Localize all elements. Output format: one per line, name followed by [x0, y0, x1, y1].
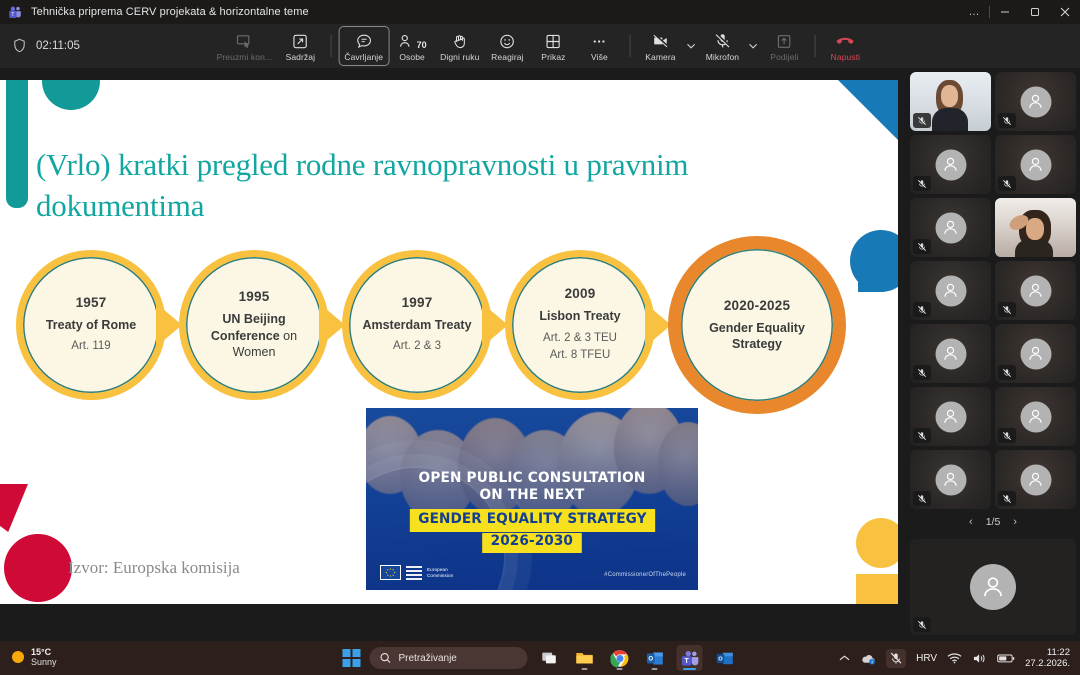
clock[interactable]: 11:22 27.2.2026. [1025, 647, 1070, 670]
control-label: Mikrofon [706, 52, 739, 62]
more-ellipsis-icon [591, 32, 608, 50]
decoration-red-shape [0, 484, 28, 532]
meeting-toolbar: 02:11:05 Preuzmi kon... Sadržaj [0, 24, 1080, 68]
mic-muted-icon [913, 617, 931, 632]
divider [330, 35, 331, 57]
mic-muted-icon [998, 365, 1016, 380]
control-napusti[interactable]: Napusti [822, 26, 868, 66]
language-indicator[interactable]: HRV [916, 653, 937, 664]
mic-muted-icon [913, 302, 931, 317]
control-prikaz[interactable]: Prikaz [530, 26, 576, 66]
close-button[interactable] [1050, 0, 1080, 24]
control-sadrzaj[interactable]: Sadržaj [277, 26, 323, 66]
window-controls: … [959, 0, 1080, 24]
logo-line-1: European [427, 567, 448, 572]
mic-muted-icon [913, 491, 931, 506]
teams-icon: T [8, 5, 22, 19]
share-screen-icon [776, 32, 793, 50]
weather-text: 15°C Sunny [31, 647, 57, 668]
control-osobe[interactable]: 70 Osobe [389, 26, 435, 66]
control-podijeli[interactable]: Podijeli [761, 26, 807, 66]
avatar [935, 212, 966, 243]
reactions-icon [499, 32, 516, 50]
taskbar-center: Pretraživanje [343, 641, 738, 675]
participant-tile[interactable] [995, 450, 1076, 509]
node-title: Amsterdam Treaty [362, 317, 471, 334]
running-indicator [582, 668, 588, 670]
timeline-diagram: 1957 Treaty of Rome Art. 119 1995 UN Bei… [16, 250, 884, 415]
participant-tile[interactable] [995, 72, 1076, 131]
clock-time: 11:22 [1047, 647, 1070, 658]
control-cavrljanje[interactable]: Čavrljanje [338, 26, 389, 66]
outlook-classic-icon: O [715, 649, 734, 668]
participant-video [995, 198, 1076, 257]
svg-text:O: O [648, 656, 653, 662]
shield-icon [12, 38, 28, 54]
avatar [935, 464, 966, 495]
spotlight-participant-tile[interactable] [910, 539, 1076, 635]
mic-muted-icon [913, 239, 931, 254]
banner-text-block: OPEN PUBLIC CONSULTATION ON THE NEXT GEN… [366, 470, 698, 553]
svg-text:O: O [718, 656, 723, 662]
mic-chevron-down-icon[interactable] [745, 29, 761, 63]
roster-pager: ‹ 1/5 › [910, 509, 1076, 535]
mic-muted-icon [998, 302, 1016, 317]
clock-date: 27.2.2026. [1025, 658, 1070, 669]
presentation-slide: (Vrlo) kratki pregled rodne ravnopravnos… [0, 80, 898, 604]
onedrive-icon[interactable]: i [860, 652, 876, 665]
control-vise[interactable]: Više [576, 26, 622, 66]
control-reagiraj[interactable]: Reagiraj [484, 26, 530, 66]
minimize-button[interactable] [990, 0, 1020, 24]
mic-muted-icon [998, 428, 1016, 443]
window-more-button[interactable]: … [959, 0, 989, 24]
slide-title: (Vrlo) kratki pregled rodne ravnopravnos… [36, 144, 806, 226]
node-year: 1957 [76, 295, 107, 310]
content-share-icon [292, 32, 309, 50]
control-label: Čavrljanje [344, 52, 383, 62]
search-placeholder: Pretraživanje [399, 653, 457, 664]
node-title: Lisbon Treaty [539, 308, 620, 325]
shared-content-stage[interactable]: (Vrlo) kratki pregled rodne ravnopravnos… [0, 68, 906, 616]
window-title-bar: T Tehnička priprema CERV projekata & hor… [0, 0, 1080, 24]
start-button[interactable] [343, 649, 361, 667]
control-label: Reagiraj [491, 52, 523, 62]
folder-icon [575, 648, 595, 668]
task-view-icon [541, 649, 559, 667]
participant-tile[interactable] [910, 387, 991, 446]
pager-page-indicator: 1/5 [986, 516, 1001, 528]
node-year: 2009 [565, 286, 596, 301]
weather-temperature: 15°C [31, 647, 57, 657]
banner-line-2: ON THE NEXT [376, 487, 688, 504]
take-control-icon [236, 32, 253, 50]
control-preuzmi-kontrolu[interactable]: Preuzmi kon... [212, 26, 278, 66]
avatar [1020, 275, 1051, 306]
view-grid-icon [545, 32, 562, 50]
node-subtitle: Art. 2 & 3 [393, 339, 441, 355]
node-title: UN Beijing Conference on Women [198, 311, 310, 361]
taskbar-app-outlook-new[interactable]: O [642, 645, 668, 671]
timeline-node-5: 2020-2025 Gender Equality Strategy [668, 236, 846, 414]
avatar [1020, 401, 1051, 432]
tray-mic-muted-icon[interactable] [886, 649, 906, 668]
participant-tile[interactable] [910, 72, 991, 131]
node-title: Treaty of Rome [46, 317, 136, 334]
participant-tile[interactable] [910, 198, 991, 257]
node-title-strong: UN Beijing Conference [211, 312, 286, 343]
decoration-red-circle [4, 534, 72, 602]
banner-line-1: OPEN PUBLIC CONSULTATION [376, 470, 688, 487]
participant-tile[interactable] [995, 324, 1076, 383]
control-digni-ruku[interactable]: Digni ruku [435, 26, 484, 66]
wifi-icon[interactable] [947, 652, 962, 664]
embedded-banner-image: OPEN PUBLIC CONSULTATION ON THE NEXT GEN… [366, 408, 698, 590]
people-icon: 70 [398, 32, 427, 50]
mic-off-icon [713, 32, 731, 50]
search-icon [380, 652, 392, 664]
avatar [935, 149, 966, 180]
control-label: Kamera [645, 52, 675, 62]
banner-highlight-1: GENDER EQUALITY STRATEGY [409, 509, 654, 531]
timeline-node-2: 1995 UN Beijing Conference on Women [179, 250, 329, 400]
control-label: Sadržaj [286, 52, 316, 62]
running-indicator [652, 668, 658, 670]
mic-muted-icon [913, 113, 931, 128]
participant-tile[interactable] [995, 261, 1076, 320]
meeting-status: 02:11:05 [12, 38, 80, 54]
running-indicator [617, 668, 623, 670]
control-label: Napusti [831, 52, 861, 62]
maximize-restore-button[interactable] [1020, 0, 1050, 24]
decoration-yellow-square [856, 574, 898, 604]
people-count: 70 [417, 40, 427, 50]
avatar [1020, 464, 1051, 495]
banner-highlight-2: 2026-2030 [482, 533, 581, 553]
camera-off-icon [651, 32, 669, 50]
pager-next-button[interactable]: › [1011, 516, 1019, 528]
tray-overflow-button[interactable] [839, 654, 850, 662]
weather-widget[interactable]: 15°C Sunny [12, 647, 57, 668]
taskbar-app-chrome[interactable] [607, 645, 633, 671]
node-subtitle: Art. 119 [71, 339, 110, 355]
mic-muted-icon [913, 365, 931, 380]
teams-icon: T [680, 649, 699, 668]
participant-tile[interactable] [910, 261, 991, 320]
avatar [935, 338, 966, 369]
banner-hashtag: #CommissionerOfThePeople [604, 572, 686, 578]
avatar [970, 564, 1016, 610]
mic-muted-icon [998, 491, 1016, 506]
outlook-icon: O [645, 649, 664, 668]
chrome-icon [610, 649, 629, 668]
system-tray: i HRV 11:22 27.2.2026. [839, 641, 1070, 675]
control-label: Preuzmi kon... [217, 52, 273, 62]
decoration-yellow-circle [856, 518, 898, 568]
camera-chevron-down-icon[interactable] [683, 29, 699, 63]
timeline-node-3: 1997 Amsterdam Treaty Art. 2 & 3 [342, 250, 492, 400]
raise-hand-icon [451, 32, 468, 50]
hangup-icon [836, 32, 855, 50]
pager-prev-button[interactable]: ‹ [967, 516, 975, 528]
avatar [935, 275, 966, 306]
battery-icon[interactable] [997, 653, 1015, 664]
taskbar-app-file-explorer[interactable] [572, 645, 598, 671]
timeline-node-4: 2009 Lisbon Treaty Art. 2 & 3 TEU Art. 8… [505, 250, 655, 400]
mic-muted-icon [913, 428, 931, 443]
meeting-controls: Preuzmi kon... Sadržaj Čavrljanje 70 [212, 24, 869, 68]
decoration-teal-circle [42, 80, 100, 110]
running-indicator-active [683, 668, 696, 670]
node-subtitle: Art. 2 & 3 TEU [543, 331, 617, 347]
participant-grid [910, 72, 1076, 509]
decoration-teal-bar [6, 80, 28, 208]
screen: T Tehnička priprema CERV projekata & hor… [0, 0, 1080, 675]
weather-condition: Sunny [31, 657, 57, 667]
logo-text: European Commission [427, 567, 453, 578]
control-label: Digni ruku [440, 52, 479, 62]
mic-muted-icon [998, 113, 1016, 128]
mic-muted-icon [998, 176, 1016, 191]
avatar [1020, 86, 1051, 117]
search-input[interactable]: Pretraživanje [370, 647, 528, 669]
node-year: 1997 [402, 295, 433, 310]
avatar [1020, 149, 1051, 180]
mic-muted-icon [913, 176, 931, 191]
chat-icon [355, 32, 372, 50]
participant-tile[interactable] [995, 387, 1076, 446]
eu-flag-icon [380, 565, 401, 580]
divider [629, 35, 630, 57]
logo-line-2: Commission [427, 573, 453, 578]
window-title: Tehnička priprema CERV projekata & horiz… [31, 6, 309, 18]
windows-taskbar: 15°C Sunny Pretraživanje [0, 641, 1080, 675]
timeline-node-1: 1957 Treaty of Rome Art. 119 [16, 250, 166, 400]
meeting-timer: 02:11:05 [36, 40, 80, 52]
taskbar-app-task-view[interactable] [537, 645, 563, 671]
participant-tile[interactable] [995, 135, 1076, 194]
avatar [935, 401, 966, 432]
node-year: 1995 [239, 289, 270, 304]
participant-tile[interactable] [910, 450, 991, 509]
control-label: Više [591, 52, 608, 62]
participant-tile[interactable] [910, 324, 991, 383]
node-year: 2020-2025 [724, 298, 790, 313]
avatar [1020, 338, 1051, 369]
divider [814, 35, 815, 57]
taskbar-app-teams[interactable]: T [677, 645, 703, 671]
logo-bars-icon [406, 566, 422, 580]
control-label: Prikaz [541, 52, 565, 62]
european-commission-logo: European Commission [380, 565, 453, 580]
control-kamera[interactable]: Kamera [637, 26, 683, 66]
sun-icon [12, 651, 24, 663]
volume-icon[interactable] [972, 652, 987, 665]
participant-tile[interactable] [910, 135, 991, 194]
decoration-blue-triangle [838, 80, 898, 142]
node-subtitle-2: Art. 8 TFEU [550, 348, 611, 364]
control-label: Osobe [399, 52, 425, 62]
control-label: Podijeli [770, 52, 798, 62]
taskbar-app-outlook-classic[interactable]: O [712, 645, 738, 671]
svg-text:i: i [872, 659, 873, 664]
node-title: Gender Equality Strategy [693, 320, 821, 353]
control-mikrofon[interactable]: Mikrofon [699, 26, 745, 66]
slide-source-note: Izvor: Europska komisija [68, 558, 240, 578]
participant-rail: ‹ 1/5 › [906, 68, 1080, 616]
participant-tile-active-speaker[interactable] [995, 198, 1076, 257]
